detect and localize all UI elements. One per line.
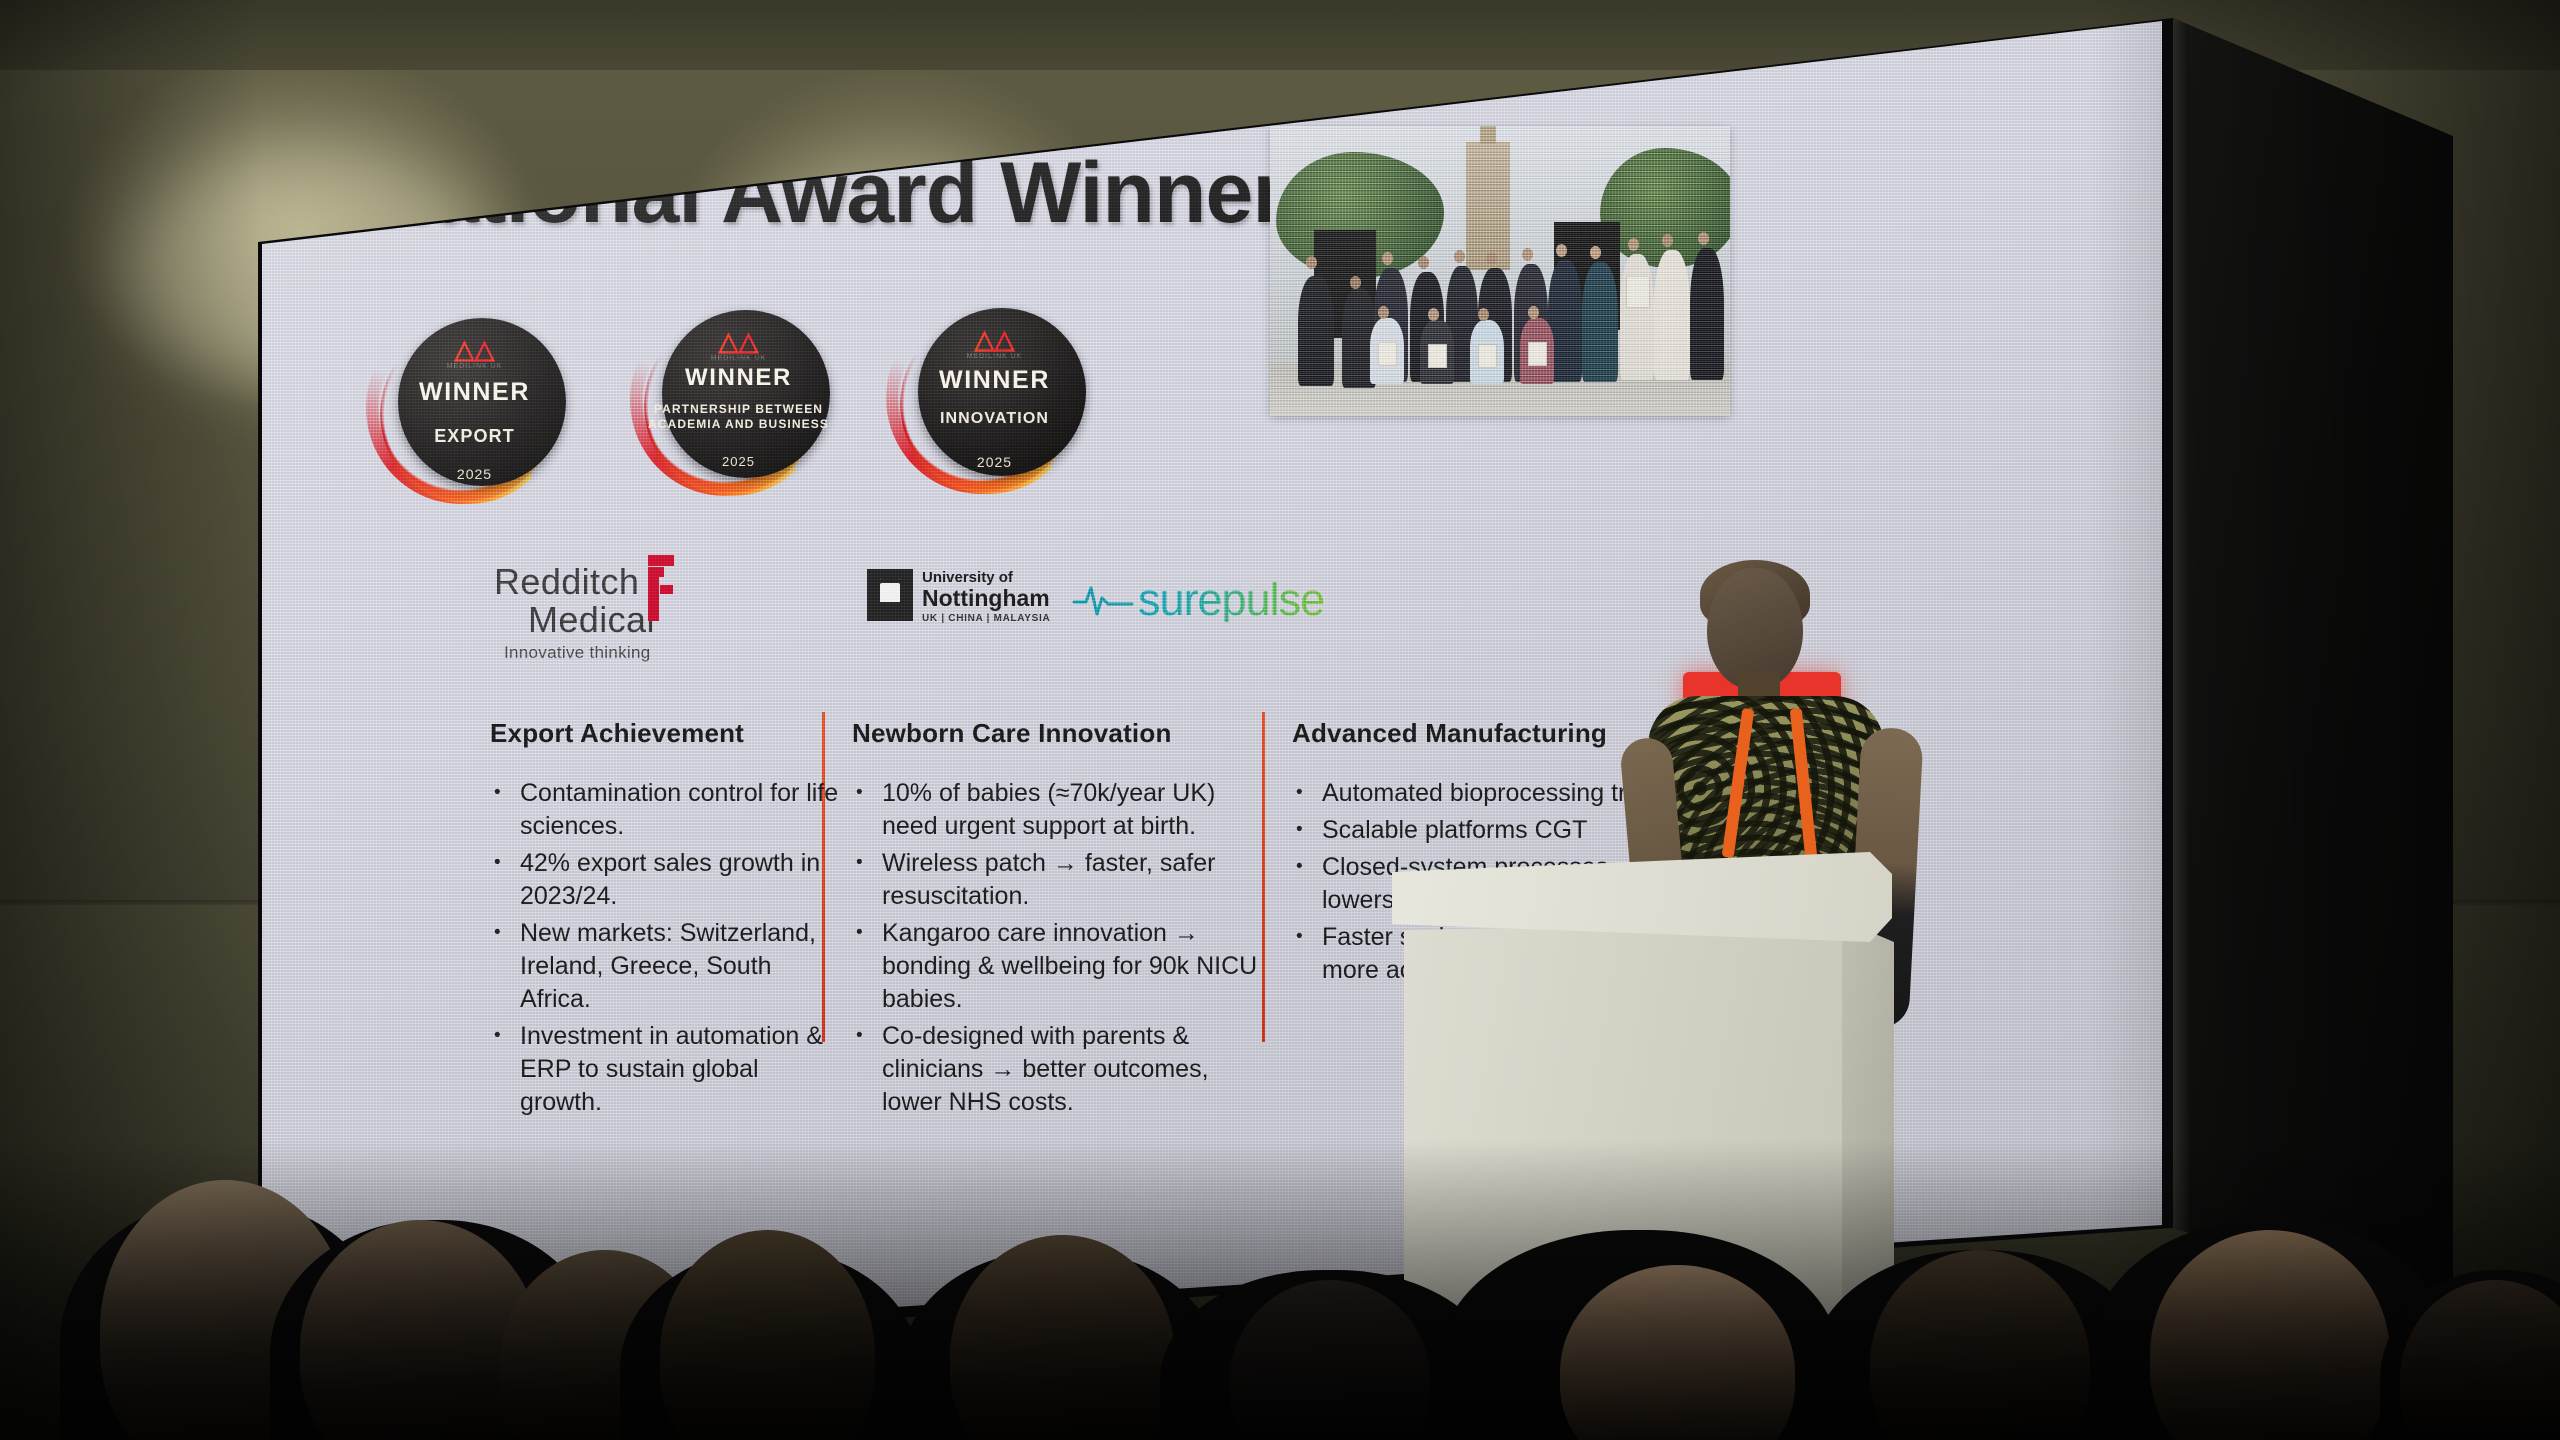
medilink-m-logo-icon: △△	[382, 336, 567, 362]
partner-logo-row: Redditch Medical Innovative thinking	[262, 563, 1462, 683]
bullet-item: 42% export sales growth in 2023/24.	[520, 847, 845, 913]
redditch-logo-line1: Redditch	[494, 563, 655, 601]
audience-foreground	[0, 1020, 2560, 1440]
badge-winner-label: WINNER	[646, 364, 831, 392]
nottingham-castle-icon	[867, 569, 913, 621]
column-heading: Export Achievement	[490, 718, 845, 749]
redditch-medical-logo: Redditch Medical Innovative thinking	[494, 563, 655, 663]
medilink-m-logo-icon: △△	[902, 326, 1087, 352]
conference-room-scene: National Award Winners △△ MEDILINK UK WI…	[0, 0, 2560, 1440]
medilink-m-logo-icon: △△	[646, 328, 831, 354]
bullet-item: Contamination control for life sciences.	[520, 777, 845, 843]
redditch-mark-icon	[644, 555, 678, 621]
group-award-winners-photo	[1270, 126, 1730, 416]
award-badge-partnership: △△ MEDILINK UK WINNER PARTNERSHIP BETWEE…	[646, 308, 831, 493]
badge-category: EXPORT	[382, 426, 567, 447]
badge-brand-sub: MEDILINK UK	[902, 353, 1087, 360]
badge-winner-label: WINNER	[382, 378, 567, 407]
badge-category: INNOVATION	[902, 410, 1087, 428]
badge-year: 2025	[382, 466, 567, 482]
badge-winner-label: WINNER	[902, 366, 1087, 395]
badge-brand-sub: MEDILINK UK	[646, 355, 831, 362]
award-badge-export: △△ MEDILINK UK WINNER EXPORT 2025	[382, 316, 567, 501]
nottingham-logo-line2: Nottingham	[922, 586, 1050, 611]
university-of-nottingham-logo: University of Nottingham UK | CHINA | MA…	[867, 569, 1050, 624]
badge-brand-sub: MEDILINK UK	[382, 363, 567, 370]
badge-year: 2025	[902, 454, 1087, 470]
award-badge-innovation: △△ MEDILINK UK WINNER INNOVATION 2025	[902, 306, 1087, 491]
column-heading: Newborn Care Innovation	[852, 718, 1272, 749]
award-badge-row: △△ MEDILINK UK WINNER EXPORT 2025 △△ MED…	[382, 308, 1172, 543]
bullet-item: 10% of babies (≈70k/year UK) need urgent…	[882, 777, 1272, 843]
badge-category: PARTNERSHIP BETWEEN ACADEMIA AND BUSINES…	[646, 402, 831, 432]
photo-grain-overlay	[1270, 126, 1730, 416]
surepulse-wordmark: surepulse	[1138, 577, 1324, 622]
bullet-item: New markets: Switzerland, Ireland, Greec…	[520, 917, 845, 1016]
lectern-top-surface	[1392, 852, 1892, 942]
redditch-logo-line2: Medical	[528, 601, 655, 639]
bullet-item: Kangaroo care innovation → bonding & wel…	[882, 917, 1272, 1016]
pulse-waveform-icon	[1072, 578, 1134, 622]
audience-shadow-fade	[0, 1140, 2560, 1440]
nottingham-logo-line1: University of	[922, 569, 1050, 586]
nottingham-logo-line3: UK | CHINA | MALAYSIA	[922, 613, 1050, 624]
surepulse-logo: surepulse	[1072, 577, 1324, 622]
bullet-item: Wireless patch → faster, safer resuscita…	[882, 847, 1272, 913]
badge-year: 2025	[646, 454, 831, 469]
redditch-logo-tagline: Innovative thinking	[504, 643, 655, 663]
